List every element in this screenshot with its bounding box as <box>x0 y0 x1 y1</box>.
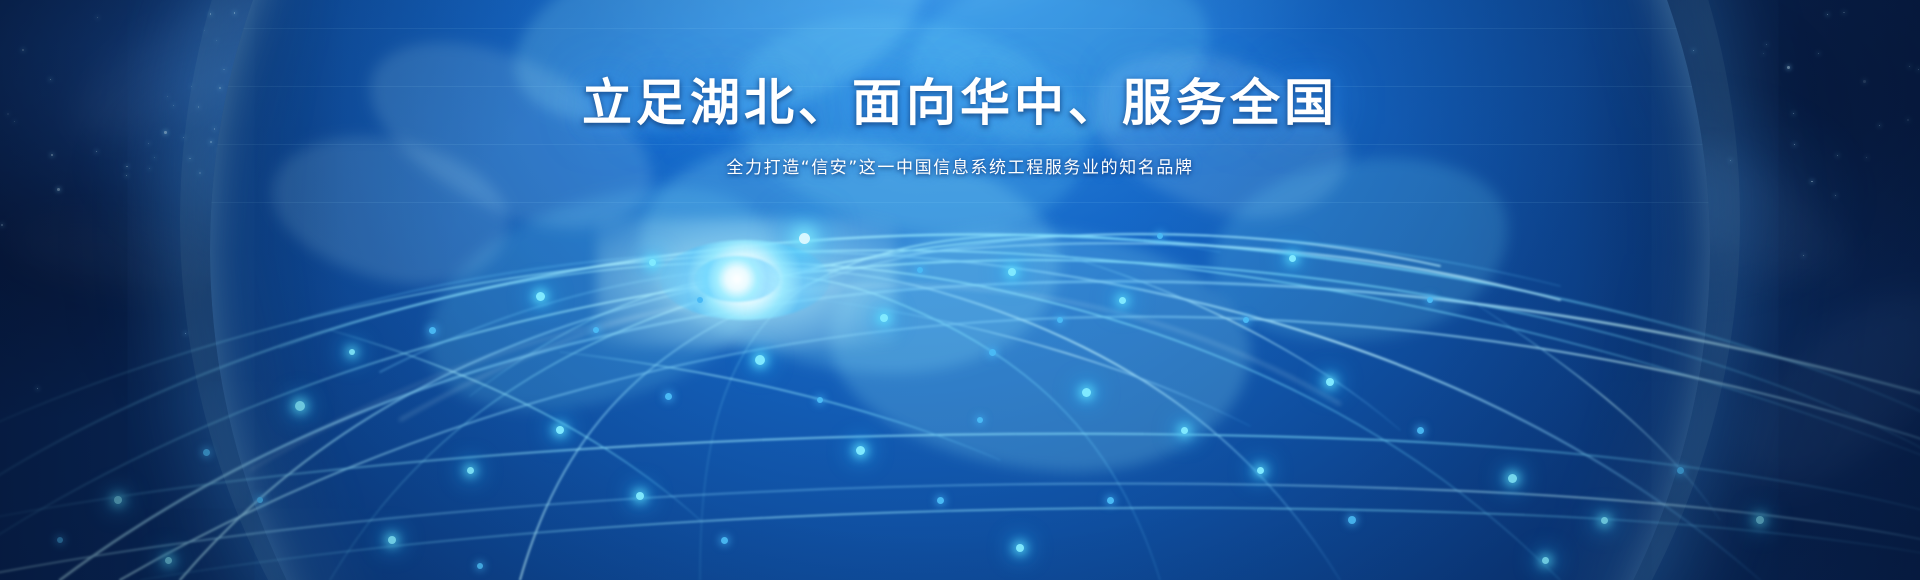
network-node <box>477 563 483 569</box>
network-node <box>856 446 865 455</box>
network-node <box>1181 427 1188 434</box>
network-node <box>1008 268 1016 276</box>
network-node <box>1348 516 1356 524</box>
network-node <box>1427 297 1433 303</box>
network-node <box>989 349 996 356</box>
network-node <box>1157 233 1163 239</box>
network-node <box>165 557 172 564</box>
network-node <box>1243 317 1249 323</box>
network-node <box>977 417 983 423</box>
network-node <box>1082 388 1091 397</box>
network-node <box>467 467 474 474</box>
network-node <box>1107 497 1114 504</box>
network-node <box>1257 467 1264 474</box>
network-node <box>1417 427 1424 434</box>
network-node <box>636 492 644 500</box>
network-node <box>593 327 599 333</box>
network-node <box>203 449 210 456</box>
network-node <box>649 259 656 266</box>
network-node <box>1542 557 1549 564</box>
network-node <box>880 314 888 322</box>
network-node <box>1016 544 1024 552</box>
hero-banner: 立足湖北、面向华中、服务全国 全力打造“信安”这一中国信息系统工程服务业的知名品… <box>0 0 1920 580</box>
banner-subline: 全力打造“信安”这一中国信息系统工程服务业的知名品牌 <box>0 153 1920 178</box>
network-node <box>1601 517 1608 524</box>
network-node <box>1057 317 1063 323</box>
network-node <box>114 496 122 504</box>
network-node <box>917 267 923 273</box>
network-node <box>1756 516 1764 524</box>
network-node <box>349 349 355 355</box>
network-node <box>429 327 436 334</box>
network-node <box>1677 467 1684 474</box>
network-node <box>755 355 765 365</box>
network-node <box>1289 255 1296 262</box>
network-node <box>257 497 263 503</box>
network-node <box>1508 474 1517 483</box>
network-node <box>57 537 63 543</box>
network-node <box>817 397 823 403</box>
banner-copy: 立足湖北、面向华中、服务全国 全力打造“信安”这一中国信息系统工程服务业的知名品… <box>0 76 1920 178</box>
network-node <box>937 497 944 504</box>
network-node <box>665 393 672 400</box>
network-node <box>1326 378 1334 386</box>
network-node <box>536 292 545 301</box>
network-node <box>697 297 703 303</box>
network-node <box>799 233 810 244</box>
network-node <box>388 536 396 544</box>
network-node <box>1119 297 1126 304</box>
network-node <box>295 401 305 411</box>
network-node <box>721 537 728 544</box>
banner-headline: 立足湖北、面向华中、服务全国 <box>0 76 1920 131</box>
network-node <box>556 426 564 434</box>
